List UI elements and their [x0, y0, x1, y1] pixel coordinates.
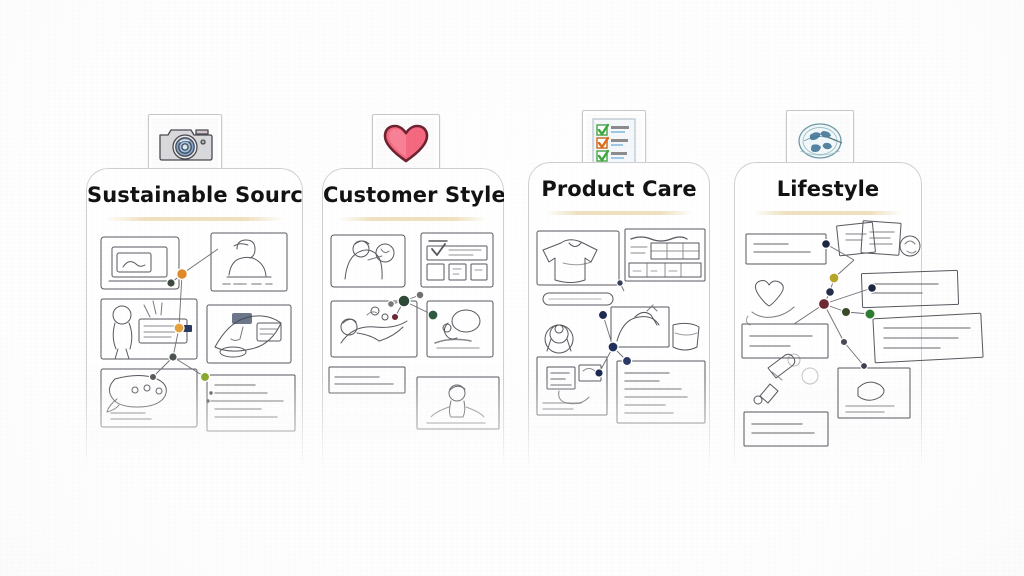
heart-icon-tile[interactable]: [372, 114, 440, 174]
title-underline: [105, 217, 284, 221]
node-dots: [818, 240, 876, 370]
page-title-sustainable-sourcing: Sustainable Sourcing: [87, 183, 302, 207]
globe-icon: [794, 117, 846, 165]
node-dots: [388, 291, 438, 320]
page-title-product-care: Product Care: [529, 177, 709, 201]
sketch-content-product-care: [529, 221, 709, 457]
title-underline: [545, 211, 693, 215]
camera-icon: [156, 122, 214, 166]
card-sustainable-sourcing[interactable]: Sustainable Sourcing: [86, 168, 303, 469]
card-customer-style[interactable]: Customer Style: [322, 168, 504, 469]
sketch-board-canvas: Sustainable Sourcing: [0, 0, 1024, 576]
title-underline: [753, 211, 903, 215]
camera-icon-tile[interactable]: [148, 114, 222, 174]
heart-icon: [382, 123, 430, 165]
title-underline: [339, 217, 487, 221]
node-dots: [595, 280, 632, 377]
page-title-customer-style: Customer Style: [323, 183, 503, 207]
sketch-content-sustainable-sourcing: [87, 227, 302, 457]
page-title-lifestyle: Lifestyle: [735, 177, 921, 201]
card-product-care[interactable]: Product Care: [528, 162, 710, 469]
sketch-content-customer-style: [323, 227, 503, 457]
sketch-content-lifestyle: [734, 220, 984, 450]
checklist-icon: [591, 117, 637, 167]
